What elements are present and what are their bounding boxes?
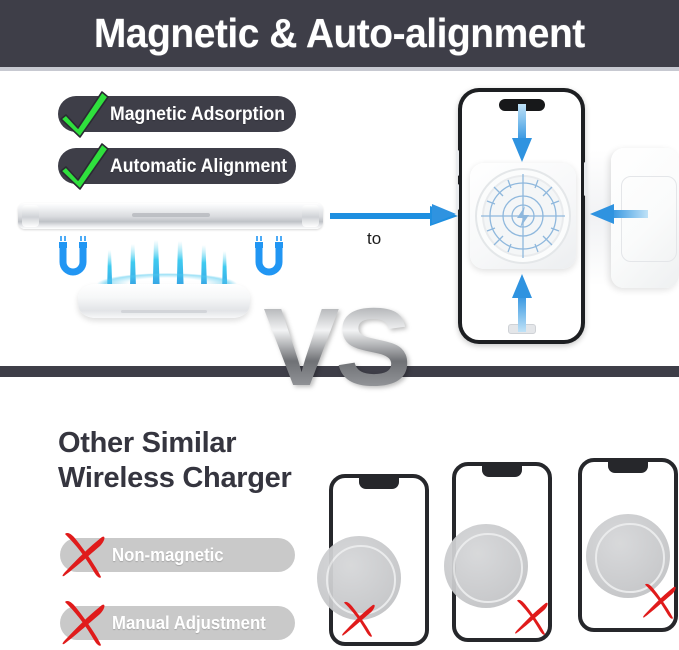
- green-check-icon: [56, 87, 112, 141]
- phone-misaligned-right: [578, 458, 678, 632]
- other-charger-heading: Other Similar Wireless Charger: [58, 426, 358, 497]
- pad-edge-line: [121, 310, 207, 313]
- badge-label: Automatic Alignment: [110, 157, 287, 176]
- infographic-canvas: Magnetic & Auto-alignment: [0, 0, 679, 646]
- puck-ring: [453, 533, 523, 603]
- vs-label: VS: [263, 293, 407, 403]
- red-x-icon: [56, 528, 110, 582]
- phone-speaker-grille: [132, 213, 210, 217]
- red-x-icon: [337, 598, 379, 640]
- header-divider-line: [0, 67, 679, 71]
- alignment-arrow-left-icon: [588, 203, 648, 225]
- phone-power-button: [584, 162, 587, 196]
- other-charger-heading-line2: Wireless Charger: [58, 461, 358, 496]
- transition-label: to: [367, 229, 381, 249]
- alignment-arrow-down-icon: [511, 104, 533, 164]
- other-charger-heading-line1: Other Similar: [58, 426, 358, 461]
- phone-misaligned-center: [452, 462, 552, 642]
- alignment-arrow-up-icon: [511, 272, 533, 332]
- phone-volume-up-button: [456, 150, 459, 176]
- badge-manual-adjustment: Manual Adjustment: [60, 606, 295, 640]
- phone-notch: [608, 462, 648, 473]
- horseshoe-magnet-icon-right: [252, 236, 286, 280]
- wireless-charging-pad-illustration: [78, 284, 250, 318]
- phone-notch: [482, 466, 522, 477]
- page-title: Magnetic & Auto-alignment: [94, 13, 585, 54]
- phone-misaligned-left: [329, 474, 429, 646]
- phone-side-profile-illustration: [18, 203, 323, 229]
- magsafe-alignment-target-icon: [473, 166, 573, 266]
- badge-label: Non-magnetic: [112, 546, 224, 564]
- magsafe-puck: [470, 163, 576, 269]
- alignment-arrow-right-icon: [432, 203, 458, 225]
- badge-non-magnetic: Non-magnetic: [60, 538, 295, 572]
- green-check-icon: [56, 139, 112, 193]
- red-x-icon: [510, 596, 552, 638]
- red-x-icon: [56, 596, 110, 650]
- badge-automatic-alignment: Automatic Alignment: [58, 148, 296, 184]
- badge-label: Manual Adjustment: [112, 614, 266, 632]
- badge-label: Magnetic Adsorption: [110, 105, 285, 124]
- header-banner: Magnetic & Auto-alignment: [0, 0, 679, 67]
- red-x-icon: [638, 580, 679, 622]
- badge-magnetic-adsorption: Magnetic Adsorption: [58, 96, 296, 132]
- horseshoe-magnet-icon-left: [56, 236, 90, 280]
- phone-notch: [359, 478, 399, 489]
